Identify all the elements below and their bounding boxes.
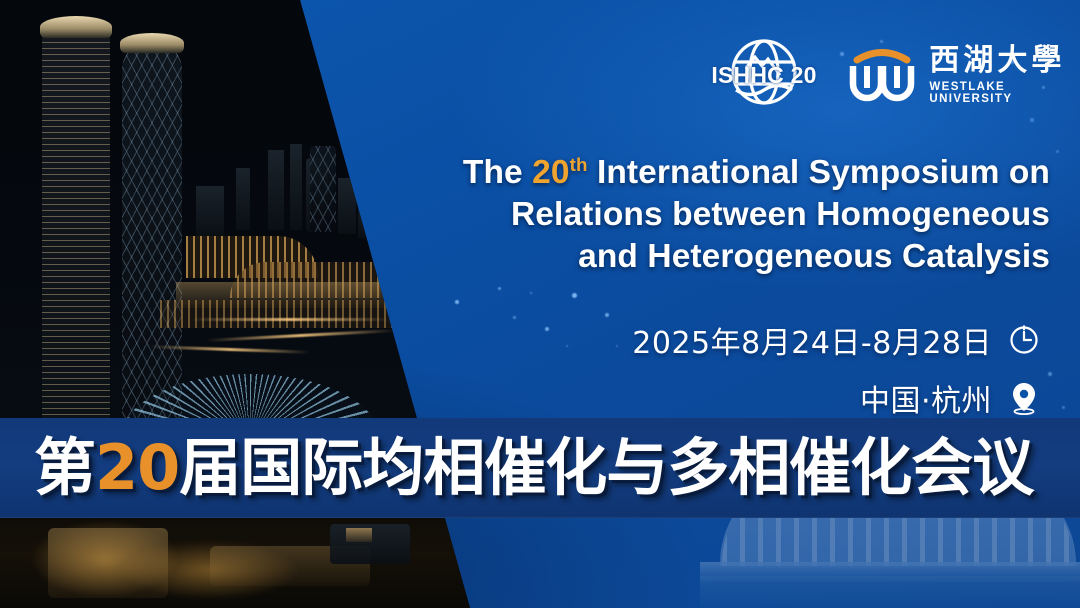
event-date: 2025年8月24日-8月28日 bbox=[632, 318, 992, 362]
event-date-row: 2025年8月24日-8月28日 bbox=[560, 318, 1040, 362]
title-prefix: The bbox=[463, 154, 532, 191]
ishhc-logo[interactable]: ISHHC 20 bbox=[700, 34, 821, 116]
conference-banner: ISHHC 20 西湖大學 WESTLAKE UNIVERSITY The 20… bbox=[0, 0, 1080, 608]
band-prefix: 第 bbox=[34, 431, 95, 504]
ordinal-suffix: th bbox=[570, 154, 588, 175]
event-location: 中国·杭州 bbox=[860, 376, 992, 420]
title-line-1: The 20th International Symposium on bbox=[360, 144, 1050, 194]
band-number: 20 bbox=[95, 431, 179, 504]
title-line-3: and Heterogeneous Catalysis bbox=[360, 236, 1050, 278]
title-line-2: Relations between Homogeneous bbox=[360, 194, 1050, 236]
westlake-english-name: WESTLAKE UNIVERSITY bbox=[929, 81, 1080, 105]
chinese-conference-title: 第20届国际均相催化与多相催化会议 bbox=[34, 424, 1033, 512]
band-suffix: 届国际均相催化与多相催化会议 bbox=[179, 431, 1033, 504]
westlake-chinese-name: 西湖大學 bbox=[929, 46, 1080, 76]
event-location-row: 中国·杭州 bbox=[560, 376, 1040, 420]
ishhc-logo-text: ISHHC 20 bbox=[700, 62, 828, 89]
wu-monogram-icon bbox=[847, 44, 917, 106]
map-pin-icon bbox=[1008, 381, 1040, 415]
westlake-university-logo[interactable]: 西湖大學 WESTLAKE UNIVERSITY bbox=[847, 44, 1080, 106]
symposium-title: The 20th International Symposium on Rela… bbox=[360, 144, 1050, 278]
ordinal-number: 20th bbox=[532, 154, 587, 191]
title-suffix: International Symposium on bbox=[588, 154, 1050, 191]
event-meta: 2025年8月24日-8月28日 中国·杭州 bbox=[560, 318, 1040, 420]
clock-icon bbox=[1008, 323, 1040, 357]
logo-row: ISHHC 20 西湖大學 WESTLAKE UNIVERSITY bbox=[700, 34, 1080, 116]
